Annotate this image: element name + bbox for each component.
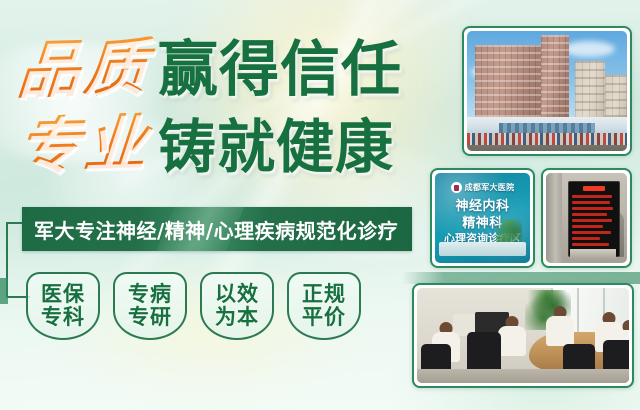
sign-counter bbox=[439, 242, 526, 256]
badge-yibao-zhuanke[interactable]: 医保 专科 bbox=[26, 272, 100, 340]
headline-line-1: 品质 赢得信任 bbox=[18, 18, 438, 100]
sign-line-1: 神经内科 bbox=[435, 199, 530, 216]
led-text-row bbox=[572, 195, 612, 198]
led-text-row bbox=[572, 213, 607, 216]
badge-line-1: 正规 bbox=[302, 283, 346, 306]
lobby-pillar bbox=[546, 173, 562, 263]
photo-hospital-building[interactable] bbox=[462, 26, 632, 156]
subtitle-band: 军大专注神经/精神/心理疾病规范化诊疗 bbox=[22, 207, 412, 251]
person-coat bbox=[546, 316, 574, 346]
badge-yixiao-weiben[interactable]: 以效 为本 bbox=[200, 272, 274, 340]
building-far-tower bbox=[605, 75, 627, 121]
room-floor bbox=[417, 369, 629, 383]
building-tall-wing bbox=[541, 35, 569, 121]
subtitle-text: 军大专注神经/精神/心理疾病规范化诊疗 bbox=[22, 215, 398, 244]
headline-highlight-pinzhi: 品质 bbox=[15, 36, 160, 102]
badge-line-2: 专研 bbox=[128, 306, 172, 329]
lobby-desk bbox=[570, 249, 616, 259]
building-main-block bbox=[475, 45, 549, 121]
headline-line-2: 专业 铸就健康 bbox=[18, 94, 438, 176]
badge-line-2: 平价 bbox=[302, 306, 346, 329]
cloud-wisp bbox=[563, 41, 615, 57]
led-display-board bbox=[568, 181, 620, 257]
badge-line-1: 医保 bbox=[41, 283, 85, 306]
photo-department-sign[interactable]: 成都军大医院 神经内科 精神科 心理咨询诊疗区 bbox=[430, 168, 535, 268]
hospital-logo-icon bbox=[451, 182, 462, 193]
headline-block: 品质 赢得信任 专业 铸就健康 bbox=[18, 18, 438, 176]
led-text-row bbox=[572, 243, 609, 246]
headline-main-yingdexinren: 赢得信任 bbox=[158, 40, 402, 100]
led-text-row bbox=[572, 225, 603, 228]
badge-line-1: 专病 bbox=[128, 283, 172, 306]
badge-zhenggui-pingjia[interactable]: 正规 平价 bbox=[287, 272, 361, 340]
person-doctor bbox=[545, 306, 575, 348]
building-right-tower bbox=[575, 61, 605, 121]
led-text-row bbox=[572, 201, 610, 204]
sign-logo-row: 成都军大医院 bbox=[435, 182, 530, 193]
photo-inner bbox=[417, 288, 629, 383]
person-coat bbox=[498, 326, 526, 356]
green-accent-tab bbox=[0, 278, 8, 304]
photo-inner: 成都军大医院 神经内科 精神科 心理咨询诊疗区 bbox=[435, 173, 530, 263]
feature-badges: 医保 专科 专病 专研 以效 为本 正规 平价 bbox=[26, 272, 361, 340]
led-board-title bbox=[583, 186, 606, 191]
headline-highlight-zhuanye: 专业 bbox=[15, 112, 160, 178]
led-text-row bbox=[572, 219, 612, 222]
badge-zhuanbing-zhuanyan[interactable]: 专病 专研 bbox=[113, 272, 187, 340]
led-text-row bbox=[572, 231, 611, 234]
street-crowd bbox=[467, 133, 627, 145]
sign-hospital-name: 成都军大医院 bbox=[465, 182, 515, 193]
photo-inner bbox=[467, 31, 627, 151]
headline-main-zhujiujiankang: 铸就健康 bbox=[158, 118, 394, 176]
photo-inner bbox=[546, 173, 627, 263]
hospital-promo-banner: 品质 赢得信任 专业 铸就健康 军大专注神经/精神/心理疾病规范化诊疗 医保 专… bbox=[0, 0, 640, 410]
photo-team-consultation[interactable] bbox=[412, 283, 634, 388]
badge-line-2: 为本 bbox=[215, 306, 259, 329]
photo-led-notice-board[interactable] bbox=[541, 168, 632, 268]
badge-line-2: 专科 bbox=[41, 306, 85, 329]
badge-line-1: 以效 bbox=[215, 283, 259, 306]
led-text-row bbox=[572, 207, 613, 210]
led-text-row bbox=[572, 237, 600, 240]
